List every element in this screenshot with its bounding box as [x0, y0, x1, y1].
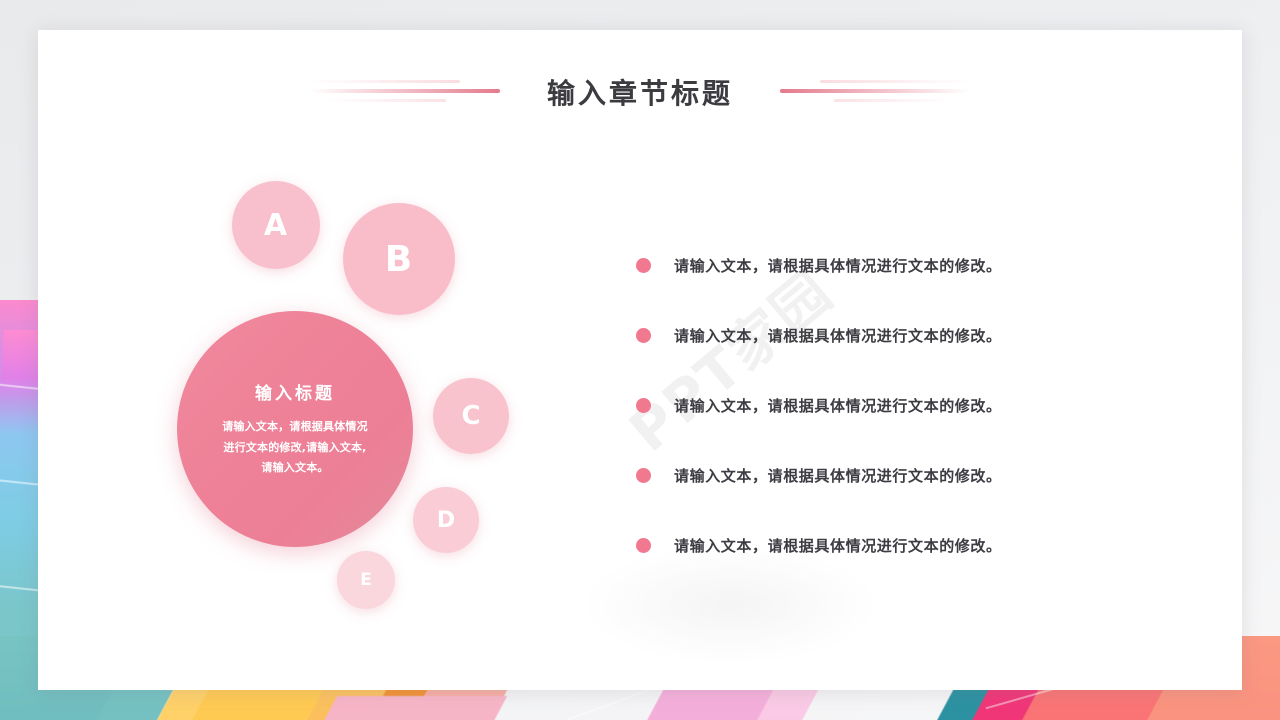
- satellite-label-e: E: [360, 570, 372, 590]
- bullet-dot-icon: [636, 328, 651, 343]
- bullet-text: 请输入文本，请根据具体情况进行文本的修改。: [674, 325, 1002, 346]
- bullet-text: 请输入文本，请根据具体情况进行文本的修改。: [674, 255, 1002, 276]
- main-bubble-body: 请输入文本，请根据具体情况 进行文本的修改,请输入文本, 请输入文本。: [197, 417, 393, 478]
- list-item[interactable]: 请输入文本，请根据具体情况进行文本的修改。: [636, 230, 1106, 300]
- circle-diagram: 输入标题 请输入文本，请根据具体情况 进行文本的修改,请输入文本, 请输入文本。…: [177, 181, 597, 631]
- list-item[interactable]: 请输入文本，请根据具体情况进行文本的修改。: [636, 300, 1106, 370]
- satellite-label-d: D: [437, 508, 455, 533]
- satellite-bubble-b[interactable]: B: [343, 203, 455, 315]
- satellite-bubble-c[interactable]: C: [433, 378, 509, 454]
- title-decoration-right: [780, 76, 970, 112]
- list-item[interactable]: 请输入文本，请根据具体情况进行文本的修改。: [636, 370, 1106, 440]
- main-bubble-body-line3: 请输入文本。: [261, 461, 328, 474]
- main-bubble-body-line1: 请输入文本，请根据具体情况: [222, 420, 368, 433]
- list-item[interactable]: 请输入文本，请根据具体情况进行文本的修改。: [636, 510, 1106, 580]
- bullet-text: 请输入文本，请根据具体情况进行文本的修改。: [674, 465, 1002, 486]
- satellite-label-c: C: [461, 401, 480, 431]
- main-bubble-body-line2: 进行文本的修改,请输入文本,: [223, 441, 366, 454]
- title-row: 输入章节标题: [38, 62, 1242, 124]
- satellite-bubble-d[interactable]: D: [413, 487, 479, 553]
- slide-canvas: 输入章节标题 输入标题 请输入文本，请根据具体情况 进行文本的修改,请输入文本,…: [0, 0, 1280, 720]
- bullet-dot-icon: [636, 538, 651, 553]
- main-bubble-title: 输入标题: [255, 379, 335, 404]
- bullet-dot-icon: [636, 258, 651, 273]
- list-item[interactable]: 请输入文本，请根据具体情况进行文本的修改。: [636, 440, 1106, 510]
- satellite-bubble-e[interactable]: E: [337, 551, 395, 609]
- slide-card: 输入章节标题 输入标题 请输入文本，请根据具体情况 进行文本的修改,请输入文本,…: [38, 30, 1242, 690]
- satellite-label-a: A: [264, 208, 288, 243]
- bullet-list: 请输入文本，请根据具体情况进行文本的修改。 请输入文本，请根据具体情况进行文本的…: [636, 230, 1106, 580]
- satellite-label-b: B: [385, 239, 413, 280]
- bullet-dot-icon: [636, 398, 651, 413]
- main-bubble[interactable]: 输入标题 请输入文本，请根据具体情况 进行文本的修改,请输入文本, 请输入文本。: [177, 311, 413, 547]
- bullet-text: 请输入文本，请根据具体情况进行文本的修改。: [674, 395, 1002, 416]
- bullet-dot-icon: [636, 468, 651, 483]
- satellite-bubble-a[interactable]: A: [232, 181, 320, 269]
- page-title: 输入章节标题: [38, 72, 1242, 112]
- bullet-text: 请输入文本，请根据具体情况进行文本的修改。: [674, 535, 1002, 556]
